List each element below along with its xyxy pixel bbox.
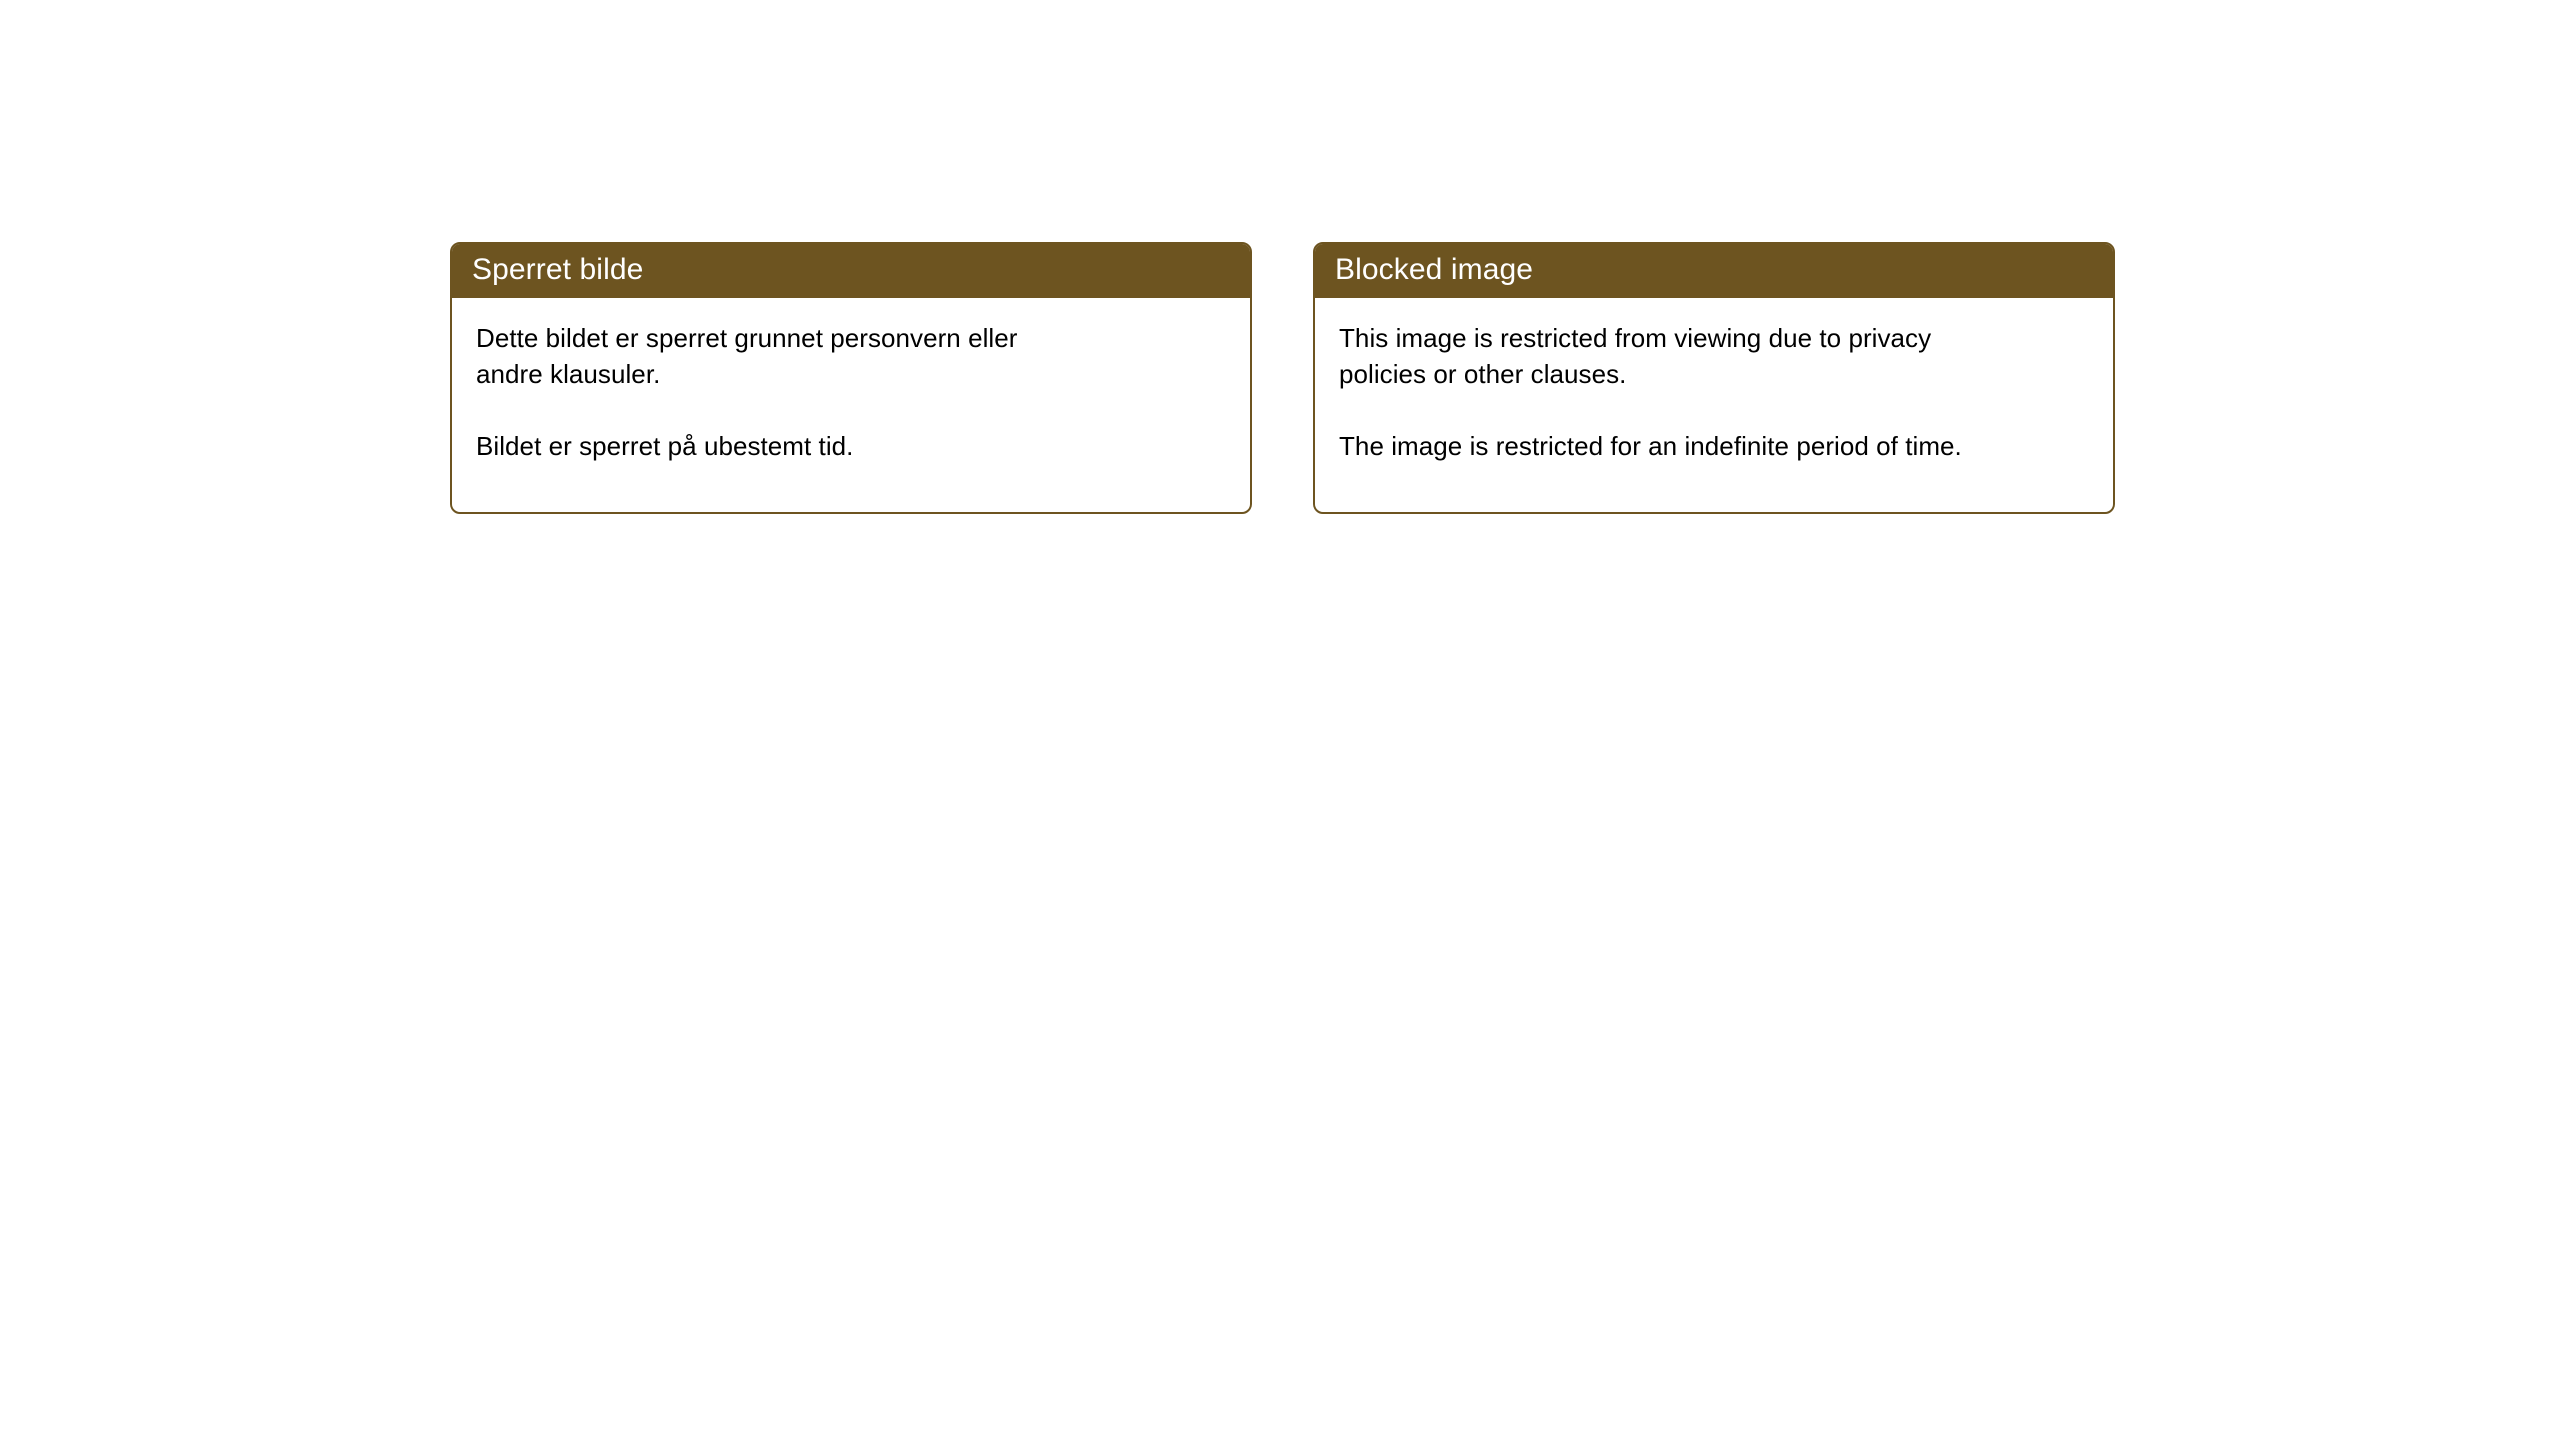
card-paragraph-en-1: This image is restricted from viewing du…: [1339, 320, 1979, 392]
card-title-nb: Sperret bilde: [472, 255, 643, 285]
blocked-image-card-en: Blocked image This image is restricted f…: [1313, 242, 2115, 514]
card-paragraph-nb-2: Bildet er sperret på ubestemt tid.: [476, 428, 1076, 464]
blocked-image-card-nb: Sperret bilde Dette bildet er sperret gr…: [450, 242, 1252, 514]
card-header-en: Blocked image: [1313, 242, 2115, 298]
card-paragraph-nb-1: Dette bildet er sperret grunnet personve…: [476, 320, 1076, 392]
card-body-en: This image is restricted from viewing du…: [1315, 298, 2113, 512]
card-header-nb: Sperret bilde: [450, 242, 1252, 298]
card-title-en: Blocked image: [1335, 255, 1533, 285]
card-paragraph-en-2: The image is restricted for an indefinit…: [1339, 428, 1979, 464]
card-body-nb: Dette bildet er sperret grunnet personve…: [452, 298, 1250, 512]
blocked-image-notice-group: Sperret bilde Dette bildet er sperret gr…: [450, 242, 2115, 514]
